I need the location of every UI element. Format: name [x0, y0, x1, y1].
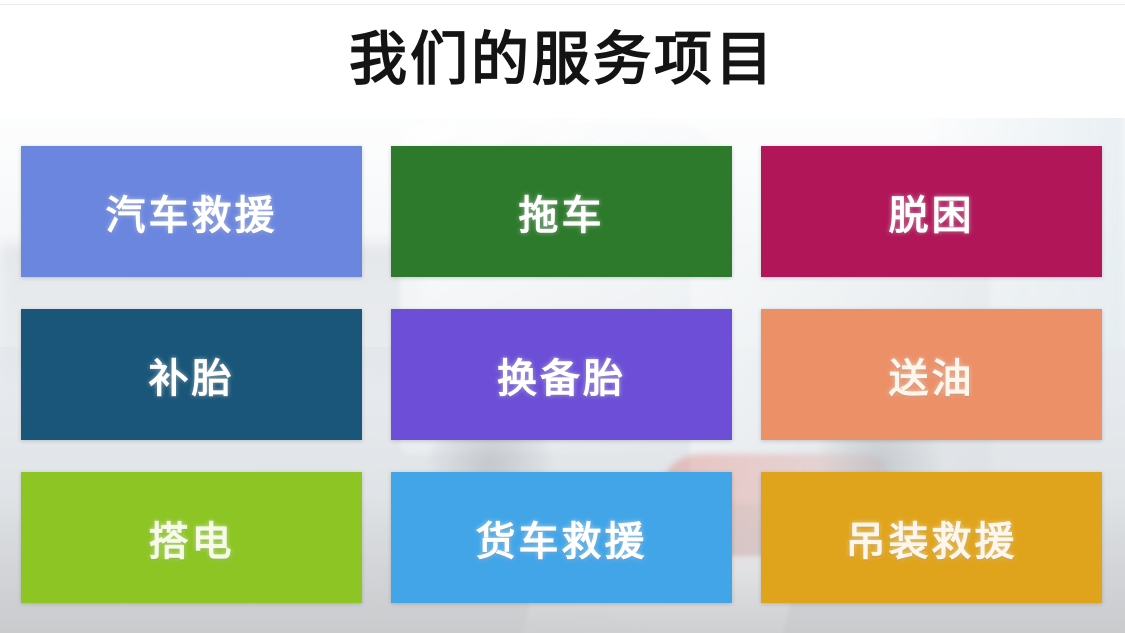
header: 我们的服务项目 — [0, 0, 1125, 118]
service-tile-label: 补胎 — [149, 346, 235, 404]
service-tile-spare-tire[interactable]: 换备胎 — [391, 309, 732, 440]
service-tile-label: 换备胎 — [497, 346, 626, 404]
service-tile-label: 拖车 — [519, 183, 605, 241]
service-tile-label: 送油 — [889, 346, 975, 404]
service-tile-label: 吊装救援 — [846, 509, 1018, 567]
service-tile-extrication[interactable]: 脱困 — [761, 146, 1102, 277]
service-tile-car-rescue[interactable]: 汽车救援 — [21, 146, 362, 277]
service-tile-truck-rescue[interactable]: 货车救援 — [391, 472, 732, 603]
service-tile-label: 汽车救援 — [106, 183, 278, 241]
top-divider — [0, 4, 1125, 5]
service-tile-label: 搭电 — [149, 509, 235, 567]
service-tile-label: 货车救援 — [476, 509, 648, 567]
service-grid: 汽车救援 拖车 脱困 补胎 换备胎 送油 搭电 货车救援 吊装救援 — [21, 146, 1103, 602]
service-tile-hoist-rescue[interactable]: 吊装救援 — [761, 472, 1102, 603]
service-tile-tire-repair[interactable]: 补胎 — [21, 309, 362, 440]
service-tile-label: 脱困 — [889, 183, 975, 241]
page-title: 我们的服务项目 — [0, 24, 1125, 96]
service-poster: 我们的服务项目 汽车救援 拖车 脱困 补胎 换备胎 送油 搭电 货车救援 吊装救… — [0, 0, 1125, 633]
service-tile-jump-start[interactable]: 搭电 — [21, 472, 362, 603]
service-tile-towing[interactable]: 拖车 — [391, 146, 732, 277]
service-tile-fuel-delivery[interactable]: 送油 — [761, 309, 1102, 440]
